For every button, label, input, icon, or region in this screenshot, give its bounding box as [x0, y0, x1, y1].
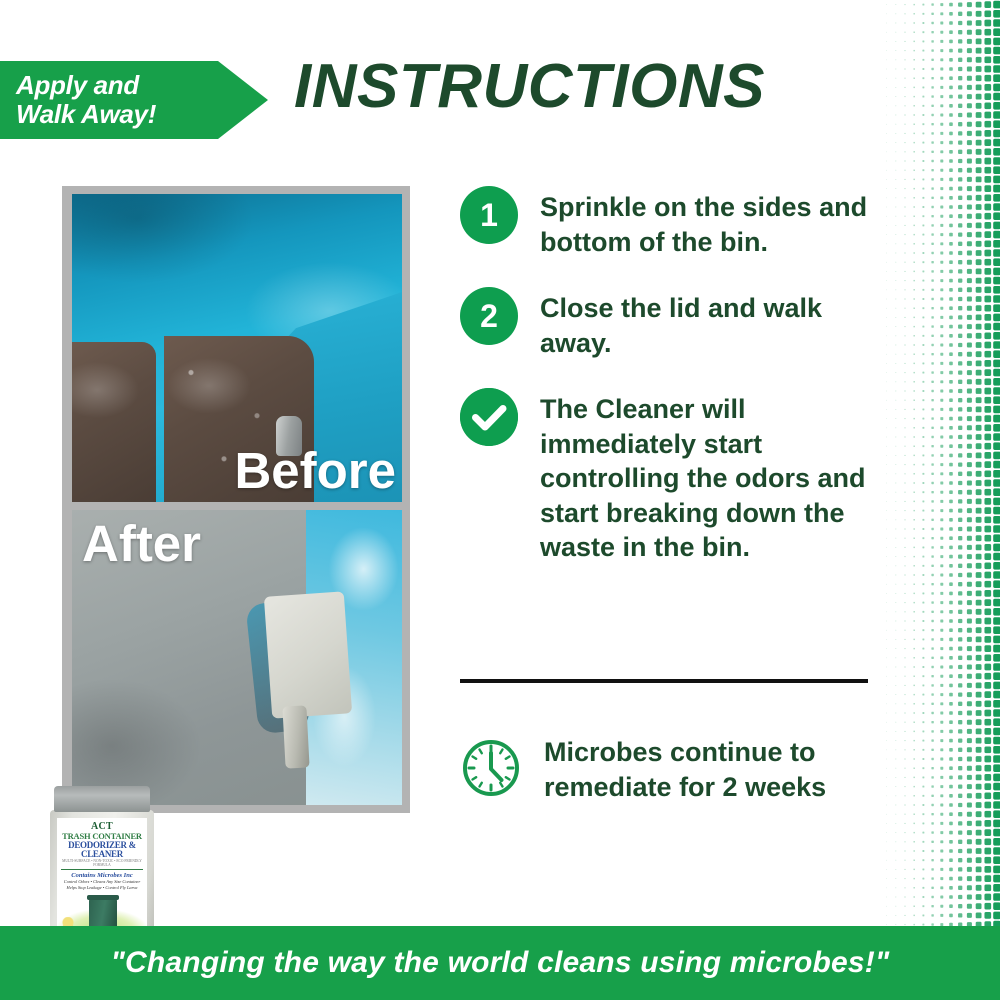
bottle-label: ACT TRASH CONTAINER DEODORIZER & CLEANER…	[57, 818, 147, 934]
halftone-dot-pattern	[882, 0, 1000, 926]
bottom-quote-text: "Changing the way the world cleans using…	[111, 946, 890, 980]
page-title: INSTRUCTIONS	[294, 56, 765, 118]
step-text-2: Close the lid and walk away.	[540, 287, 880, 360]
step-number-badge-2: 2	[460, 287, 518, 345]
instruction-steps: 1 Sprinkle on the sides and bottom of th…	[460, 186, 880, 593]
photo-stack: Before After	[72, 194, 402, 805]
footnote-row: Microbes continue to remediate for 2 wee…	[460, 735, 874, 805]
apply-walk-away-banner: Apply and Walk Away!	[0, 61, 268, 139]
bottle-rule	[61, 869, 143, 870]
bottom-quote-banner: "Changing the way the world cleans using…	[0, 926, 1000, 1000]
footnote-text: Microbes continue to remediate for 2 wee…	[544, 735, 874, 805]
trash-bin-icon	[89, 899, 117, 929]
bottle-bullet-1: Control Odors • Cleans Any Size Containe…	[57, 879, 147, 885]
step-text-3: The Cleaner will immediately start contr…	[540, 388, 880, 565]
section-divider	[460, 679, 868, 683]
bottle-microbes-claim: Contains Microbes Inc	[57, 872, 147, 879]
before-grime-left	[72, 342, 156, 502]
apply-walk-away-label: Apply and Walk Away!	[0, 71, 156, 129]
clock-icon	[460, 737, 522, 804]
step-item-1: 1 Sprinkle on the sides and bottom of th…	[460, 186, 880, 259]
step-number-badge-1: 1	[460, 186, 518, 244]
bottle-line-2: DEODORIZER & CLEANER	[57, 841, 147, 860]
check-icon	[460, 388, 518, 446]
after-clean-block	[264, 591, 352, 718]
infographic-page: Apply and Walk Away! INSTRUCTIONS Before…	[0, 0, 1000, 1000]
before-label: Before	[234, 445, 396, 496]
after-photo: After	[72, 510, 402, 805]
after-label: After	[82, 518, 201, 569]
before-photo: Before	[72, 194, 402, 502]
bottle-cap	[54, 786, 150, 812]
before-after-photo-frame: Before After	[62, 186, 410, 813]
bottle-subline: MULTI-SURFACE • NON-TOXIC • ECO FRIENDLY…	[57, 860, 147, 868]
step-text-1: Sprinkle on the sides and bottom of the …	[540, 186, 880, 259]
bottle-bullet-2: Helps Stop Leakage • Control Fly Larva	[57, 885, 147, 891]
halftone-svg	[882, 0, 1000, 926]
after-drain-nozzle	[282, 705, 309, 768]
step-item-3: The Cleaner will immediately start contr…	[460, 388, 880, 565]
step-item-2: 2 Close the lid and walk away.	[460, 287, 880, 360]
